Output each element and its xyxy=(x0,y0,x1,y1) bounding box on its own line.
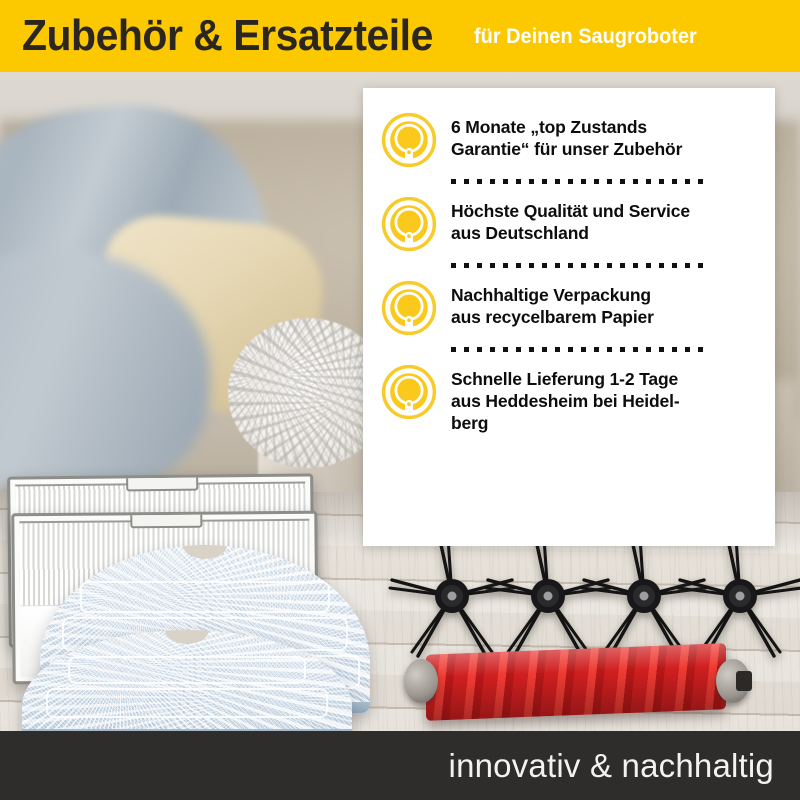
page-title: Zubehör & Ersatzteile xyxy=(22,14,433,58)
robot-vacuum-logo-icon xyxy=(381,196,437,252)
feature-text: Schnelle Lieferung 1-2 Tage aus Heddeshe… xyxy=(451,362,680,434)
feature-text: 6 Monate „top Zustands Garantie“ für uns… xyxy=(451,110,682,160)
features-card: 6 Monate „top Zustands Garantie“ für uns… xyxy=(363,88,775,546)
feature-text: Höchste Qualität und Service aus Deutsch… xyxy=(451,194,690,244)
header-subtitle: für Deinen Saugroboter xyxy=(474,26,697,47)
footer-tagline: innovativ & nachhaltig xyxy=(449,749,774,782)
feature-divider xyxy=(451,338,759,360)
product-banner: Zubehör & Ersatzteile für Deinen Saugrob… xyxy=(0,0,800,800)
robot-vacuum-logo-icon xyxy=(381,364,437,420)
feature-divider xyxy=(451,254,759,276)
footer-bar: innovativ & nachhaltig xyxy=(0,731,800,800)
header-bar: Zubehör & Ersatzteile für Deinen Saugrob… xyxy=(0,0,800,72)
feature-divider xyxy=(451,170,759,192)
robot-vacuum-logo-icon xyxy=(381,112,437,168)
feature-item: 6 Monate „top Zustands Garantie“ für uns… xyxy=(381,110,759,168)
feature-item: Schnelle Lieferung 1-2 Tage aus Heddeshe… xyxy=(381,362,759,434)
feature-text: Nachhaltige Verpackung aus recycelbarem … xyxy=(451,278,654,328)
feature-item: Nachhaltige Verpackung aus recycelbarem … xyxy=(381,278,759,336)
feature-item: Höchste Qualität und Service aus Deutsch… xyxy=(381,194,759,252)
robot-vacuum-logo-icon xyxy=(381,280,437,336)
